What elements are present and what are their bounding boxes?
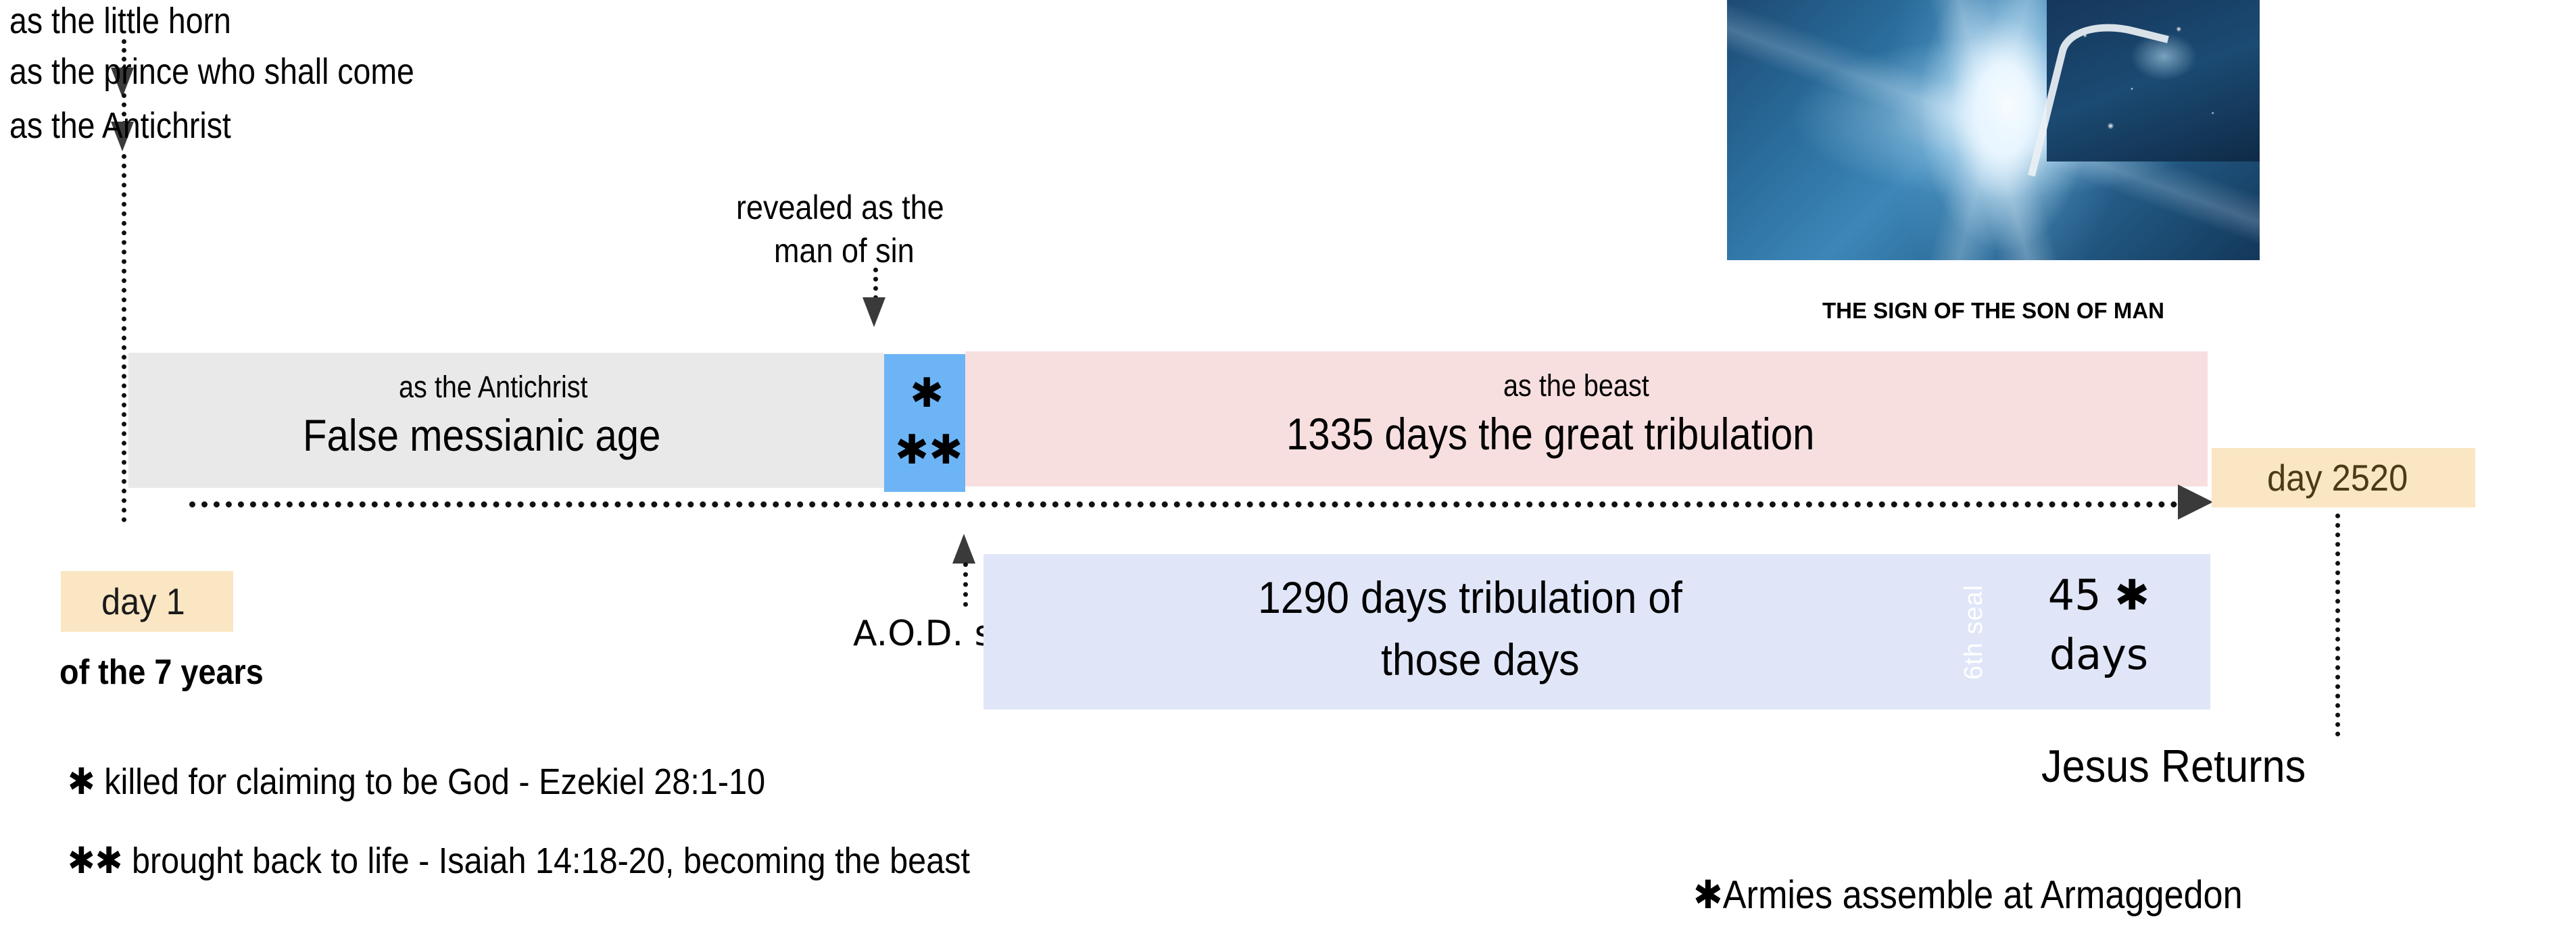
- timeline-arrow-right-icon: [2178, 484, 2213, 520]
- seal-tag-6th-seal-lower: 6th seal: [1953, 554, 1995, 709]
- revealed-label-line2: man of sin: [676, 231, 1027, 270]
- footnote-1: ✱ killed for claiming to be God - Ezekie…: [68, 760, 843, 803]
- bar-star-marker: ✱ ✱✱: [884, 354, 965, 492]
- start-vertical-guide: [122, 154, 126, 522]
- bar-false-messianic-age: as the Antichrist False messianic age: [128, 353, 884, 488]
- seal-tag-6th-seal-top: 6th seal: [1672, 112, 1714, 262]
- end-vertical-guide: [2335, 514, 2340, 737]
- aod-connector: [963, 562, 968, 607]
- revealed-label-line1: revealed as the: [676, 188, 1027, 227]
- timeline-dotted-axis: [189, 501, 2190, 507]
- chain-label-prince-text: as the prince who shall come: [9, 53, 414, 91]
- aod-arrow-up-icon: [952, 534, 975, 564]
- chain-label-little-horn-text: as the little horn: [9, 2, 231, 41]
- badge-day-2520-text: day 2520: [2267, 456, 2408, 499]
- bar-great-tribulation-main-label: 1335 days the great tribulation: [965, 408, 2208, 459]
- bar-false-messianic-age-top-label: as the Antichrist: [128, 370, 884, 405]
- chain-label-prince: as the prince who shall come: [9, 53, 480, 91]
- chain-label-antichrist: as the Antichrist: [9, 107, 267, 145]
- seal-tag-6th-seal-top-text: 6th seal: [1678, 139, 1707, 234]
- badge-day-1: day 1: [61, 571, 233, 632]
- jesus-returns-label: Jesus Returns: [2041, 740, 2335, 793]
- bar-45-days-line1: 45 ✱: [1997, 570, 2200, 620]
- chain-label-antichrist-text: as the Antichrist: [9, 107, 231, 145]
- bar-1290-days-line2: those days: [1071, 634, 1906, 685]
- bar-great-tribulation-top-label: as the beast: [965, 368, 2208, 403]
- sign-image-caption-line1: THE SIGN OF THE SON OF MAN: [1727, 297, 2260, 324]
- chain-label-little-horn: as the little horn: [9, 2, 267, 41]
- star-double-marker: ✱✱: [895, 430, 963, 470]
- revealed-connector: [873, 268, 878, 300]
- sign-of-son-of-man-image: [1727, 0, 2260, 260]
- seal-tag-6th-seal-lower-text: 6th seal: [1960, 584, 1989, 679]
- bar-1290-days-line1: 1290 days tribulation of: [1071, 572, 1906, 623]
- footnote-2: ✱✱ brought back to life - Isaiah 14:18-2…: [68, 839, 1070, 882]
- bar-false-messianic-age-main-label: False messianic age: [128, 409, 884, 461]
- bar-great-tribulation: as the beast 1335 days the great tribula…: [965, 351, 2208, 487]
- revealed-arrow-down-icon: [862, 297, 885, 327]
- star-single-marker: ✱: [910, 373, 944, 414]
- bar-1290-days: 1290 days tribulation of those days 6th …: [983, 554, 2210, 709]
- badge-day-2520: day 2520: [2212, 448, 2475, 507]
- badge-day-1-text: day 1: [101, 580, 185, 623]
- bar-45-days-line2: days: [1997, 630, 2200, 679]
- armageddon-note: ✱Armies assemble at Armaggedon: [1693, 872, 2304, 918]
- start-badge-subtitle: of the 7 years: [59, 652, 286, 693]
